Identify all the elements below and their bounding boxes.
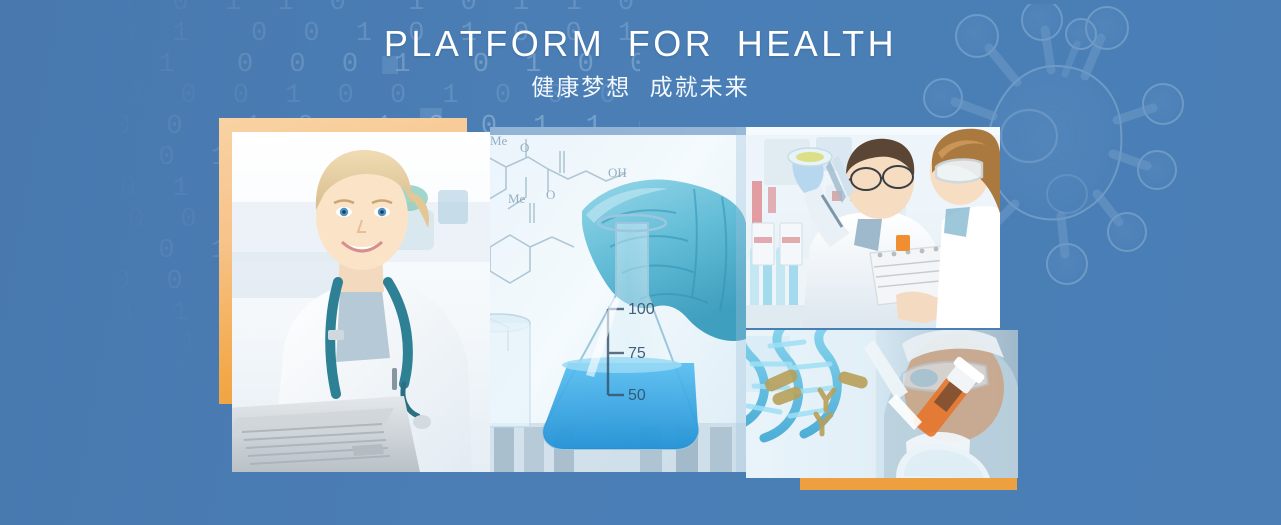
photo-lab-researchers[interactable] bbox=[746, 127, 1000, 328]
photo-doctor[interactable] bbox=[232, 132, 490, 472]
photo-dna-scientist[interactable] bbox=[746, 330, 1018, 478]
svg-text:Me: Me bbox=[508, 191, 526, 206]
health-platform-banner: 1 0 1 1 0 1 0 1 1 0 0 1 0 0 0 1 0 0 1 0 … bbox=[0, 0, 1281, 525]
svg-text:Me: Me bbox=[490, 133, 508, 148]
page-subtitle: 健康梦想 成就未来 bbox=[0, 72, 1281, 102]
svg-text:75: 75 bbox=[628, 345, 646, 362]
svg-text:O: O bbox=[546, 187, 555, 202]
svg-text:OH: OH bbox=[608, 165, 627, 180]
photo-flask[interactable]: Me O O OH Me bbox=[490, 127, 746, 472]
svg-text:50: 50 bbox=[628, 387, 646, 404]
banner-title-block: PLATFORM FOR HEALTH 健康梦想 成就未来 bbox=[0, 22, 1281, 102]
svg-text:O: O bbox=[520, 140, 529, 155]
page-title: PLATFORM FOR HEALTH bbox=[0, 22, 1281, 66]
svg-text:100: 100 bbox=[628, 301, 655, 318]
